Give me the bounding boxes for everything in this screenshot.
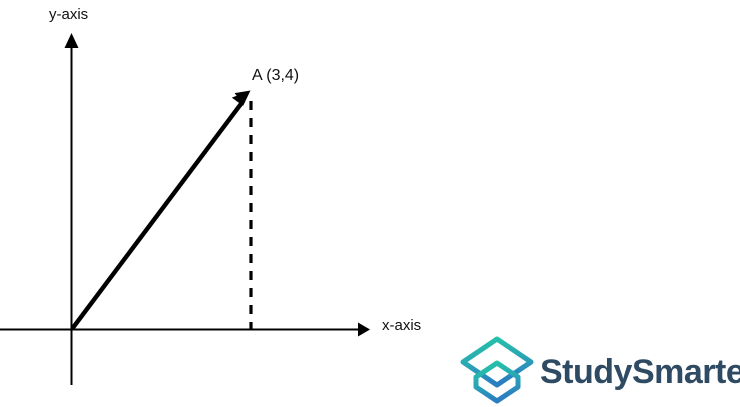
- x-axis-label: x-axis: [382, 317, 421, 334]
- vector-oa-line: [72, 101, 244, 330]
- y-axis-label: y-axis: [49, 6, 88, 23]
- diagram-canvas: y-axis x-axis A (3,4) StudySmarter: [0, 0, 740, 407]
- vector-diagram-figure: y-axis x-axis A (3,4) StudySmarter: [0, 0, 740, 407]
- axes-group: [0, 33, 370, 385]
- studysmarter-logo: StudySmarter: [463, 339, 740, 401]
- arrowhead-up-icon: [65, 33, 79, 48]
- point-a-label: A (3,4): [252, 67, 299, 84]
- studysmarter-cube-logo-icon: [463, 339, 531, 401]
- arrowhead-right-icon: [358, 323, 370, 337]
- studysmarter-wordmark: StudySmarter: [540, 353, 740, 391]
- vector-oa-group: [72, 91, 251, 330]
